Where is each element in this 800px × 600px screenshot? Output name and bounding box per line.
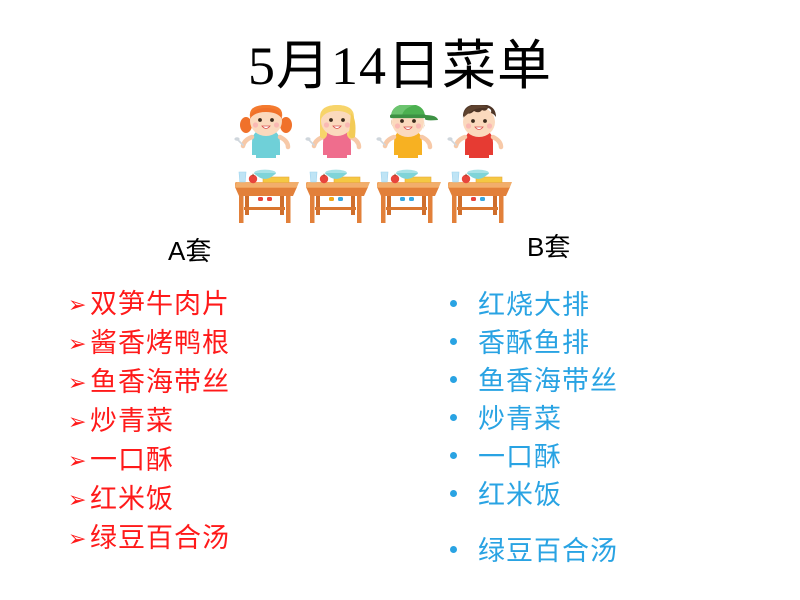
menu-item-a-3: ➢ 鱼香海带丝 [68, 364, 368, 403]
menu-item-a-6: ➢ 红米饭 [68, 481, 368, 520]
arrow-bullet-icon: ➢ [68, 483, 90, 519]
column-a-letter: A [168, 236, 185, 266]
menu-item-b-6: 红米饭 [448, 476, 768, 514]
menu-column-b: 红烧大排 香酥鱼排 鱼香海带丝 炒青菜 一口酥 红米饭 [448, 286, 768, 570]
arrow-bullet-icon: ➢ [68, 366, 90, 402]
menu-item-b-3: 鱼香海带丝 [448, 362, 768, 400]
arrow-bullet-icon: ➢ [68, 288, 90, 324]
arrow-bullet-icon: ➢ [68, 444, 90, 480]
menu-item-label: 红米饭 [90, 481, 174, 517]
menu-column-a: ➢ 双笋牛肉片 ➢ 酱香烤鸭根 ➢ 鱼香海带丝 ➢ 炒青菜 ➢ 一口酥 ➢ 红米… [68, 286, 368, 559]
menu-item-a-7: ➢ 绿豆百合汤 [68, 520, 368, 559]
menu-item-label: 一口酥 [90, 442, 174, 478]
menu-list-b: 红烧大排 香酥鱼排 鱼香海带丝 炒青菜 一口酥 红米饭 [448, 286, 768, 570]
menu-item-label: 炒青菜 [478, 400, 562, 438]
menu-item-b-4: 炒青菜 [448, 400, 768, 438]
menu-item-label: 绿豆百合汤 [90, 520, 230, 556]
child-2 [305, 105, 370, 223]
column-b-letter: B [527, 232, 544, 262]
children-desks-svg [228, 105, 518, 223]
menu-item-label: 香酥鱼排 [478, 324, 590, 362]
menu-item-b-1: 红烧大排 [448, 286, 768, 324]
child-3 [376, 105, 441, 223]
menu-item-b-2: 香酥鱼排 [448, 324, 768, 362]
menu-list-a: ➢ 双笋牛肉片 ➢ 酱香烤鸭根 ➢ 鱼香海带丝 ➢ 炒青菜 ➢ 一口酥 ➢ 红米… [68, 286, 368, 559]
four-children-eating-illustration [228, 105, 518, 223]
arrow-bullet-icon: ➢ [68, 327, 90, 363]
menu-item-label: 红烧大排 [478, 286, 590, 324]
arrow-bullet-icon: ➢ [68, 405, 90, 441]
column-header-b: B套 [527, 227, 570, 264]
menu-item-a-1: ➢ 双笋牛肉片 [68, 286, 368, 325]
child-4 [447, 105, 512, 223]
menu-item-a-5: ➢ 一口酥 [68, 442, 368, 481]
menu-item-label: 鱼香海带丝 [90, 364, 230, 400]
column-header-a: A套 [168, 231, 211, 268]
arrow-bullet-icon: ➢ [68, 522, 90, 558]
menu-item-label: 酱香烤鸭根 [90, 325, 230, 361]
column-a-suffix: 套 [185, 237, 211, 266]
slide-canvas: 5月14日菜单 [0, 0, 800, 600]
menu-item-label: 一口酥 [478, 438, 562, 476]
menu-item-b-7: 绿豆百合汤 [448, 532, 768, 570]
page-title: 5月14日菜单 [0, 38, 800, 95]
menu-item-b-5: 一口酥 [448, 438, 768, 476]
menu-item-a-4: ➢ 炒青菜 [68, 403, 368, 442]
menu-item-label: 鱼香海带丝 [478, 362, 618, 400]
menu-item-a-2: ➢ 酱香烤鸭根 [68, 325, 368, 364]
menu-item-label: 绿豆百合汤 [478, 532, 618, 570]
menu-item-label: 炒青菜 [90, 403, 174, 439]
menu-item-label: 双笋牛肉片 [90, 286, 230, 322]
menu-item-label: 红米饭 [478, 476, 562, 514]
child-1 [234, 105, 299, 223]
column-b-suffix: 套 [544, 233, 570, 262]
